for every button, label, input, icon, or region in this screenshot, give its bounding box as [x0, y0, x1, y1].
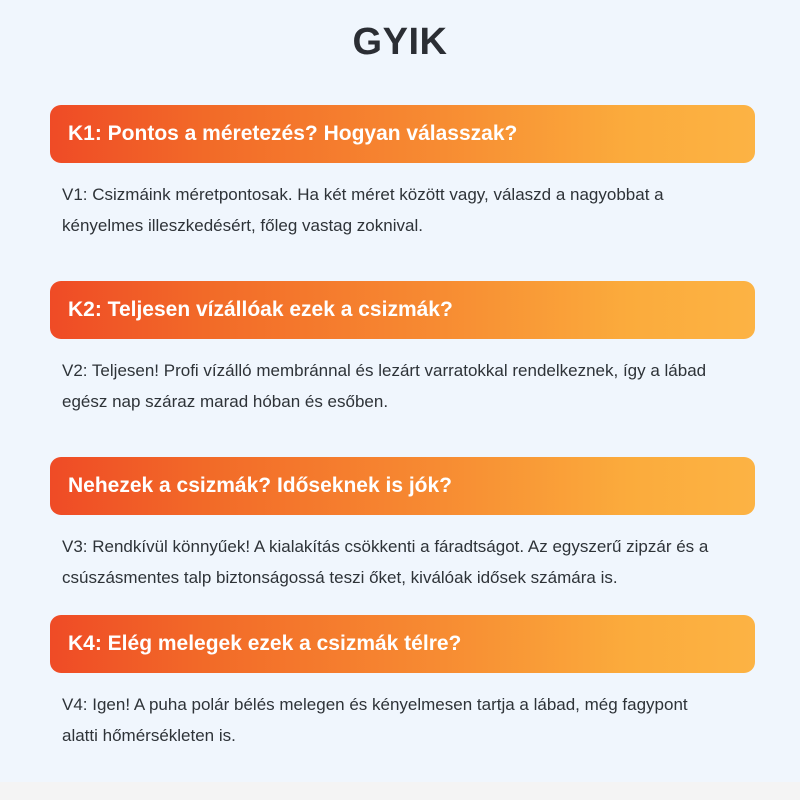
faq-question-header-2[interactable]: K2: Teljesen vízállóak ezek a csizmák?: [50, 281, 755, 339]
faq-list: K1: Pontos a méretezés? Hogyan válasszak…: [50, 105, 755, 751]
faq-item: K4: Elég melegek ezek a csizmák télre? V…: [50, 615, 755, 751]
spacer: [50, 593, 755, 615]
bottom-strip: [0, 782, 800, 800]
faq-question-text-1: K1: Pontos a méretezés? Hogyan válasszak…: [68, 121, 517, 147]
faq-item: Nehezek a csizmák? Időseknek is jók? V3:…: [50, 457, 755, 593]
faq-question-text-2: K2: Teljesen vízállóak ezek a csizmák?: [68, 297, 453, 323]
faq-answer-text-1: V1: Csizmáink méretpontosak. Ha két mére…: [50, 163, 755, 241]
faq-question-text-4: K4: Elég melegek ezek a csizmák télre?: [68, 631, 461, 657]
faq-question-header-3[interactable]: Nehezek a csizmák? Időseknek is jók?: [50, 457, 755, 515]
faq-item: K1: Pontos a méretezés? Hogyan válasszak…: [50, 105, 755, 241]
faq-question-header-4[interactable]: K4: Elég melegek ezek a csizmák télre?: [50, 615, 755, 673]
spacer: [50, 241, 755, 281]
faq-question-header-1[interactable]: K1: Pontos a méretezés? Hogyan válasszak…: [50, 105, 755, 163]
page-title: GYIK: [0, 0, 800, 64]
faq-page: GYIK K1: Pontos a méretezés? Hogyan vála…: [0, 0, 800, 800]
faq-answer-text-3: V3: Rendkívül könnyűek! A kialakítás csö…: [50, 515, 755, 593]
spacer: [50, 417, 755, 457]
faq-item: K2: Teljesen vízállóak ezek a csizmák? V…: [50, 281, 755, 417]
faq-answer-text-2: V2: Teljesen! Profi vízálló membránnal é…: [50, 339, 755, 417]
faq-answer-text-4: V4: Igen! A puha polár bélés melegen és …: [50, 673, 755, 751]
faq-question-text-3: Nehezek a csizmák? Időseknek is jók?: [68, 473, 452, 499]
